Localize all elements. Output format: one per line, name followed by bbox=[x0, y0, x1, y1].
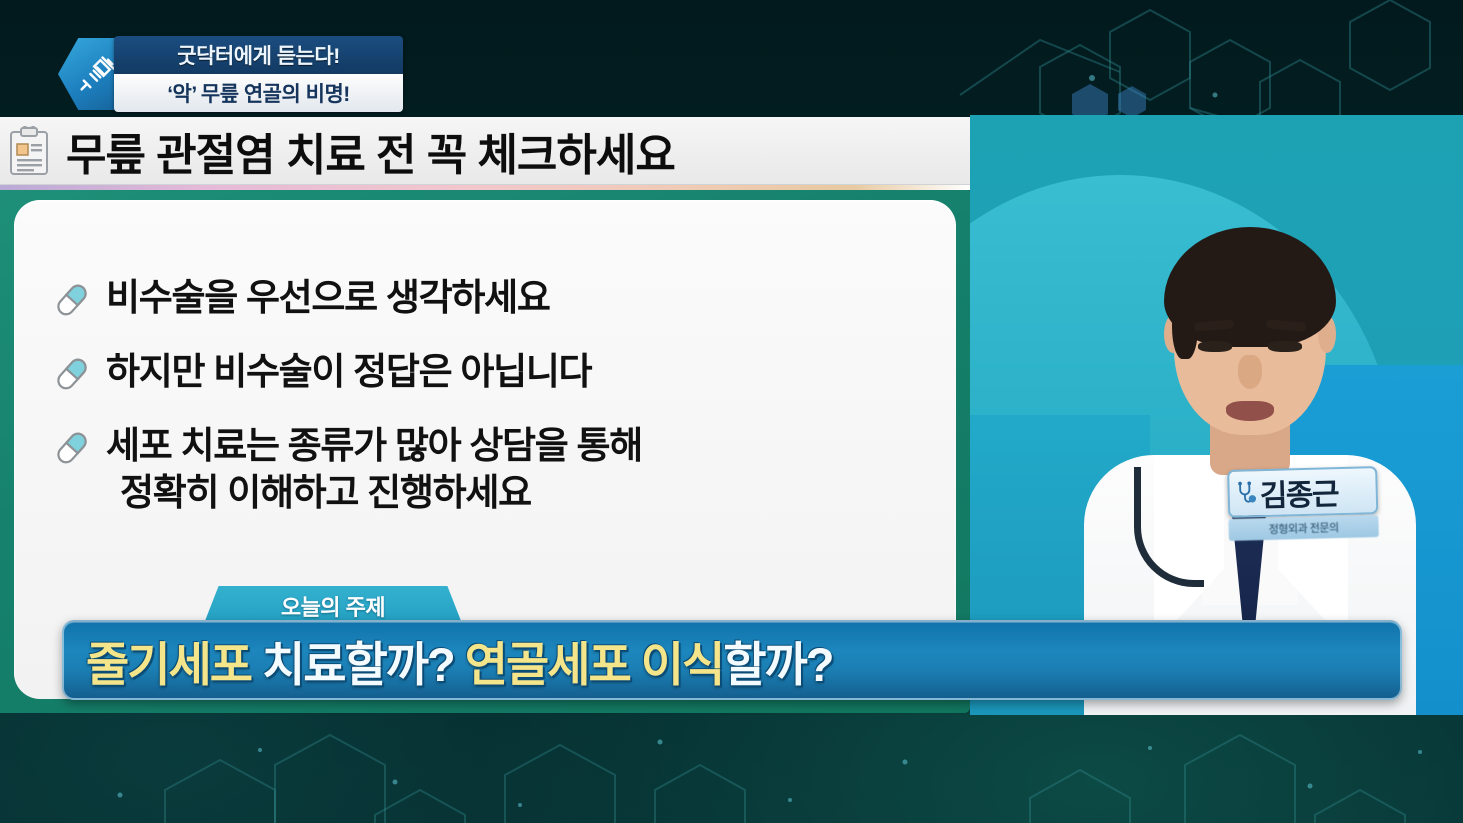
name-tag-specialty: 정형외과 전문의 bbox=[1228, 515, 1379, 541]
list-item: 비수술을 우선으로 생각하세요 bbox=[50, 274, 926, 322]
doctor-nose bbox=[1238, 355, 1262, 389]
doctor-mouth bbox=[1226, 401, 1274, 421]
name-tag-main: 김종근 bbox=[1227, 466, 1378, 518]
pill-capsule-icon bbox=[50, 426, 94, 470]
page-title: 무릎 관절염 치료 전 꼭 체크하세요 bbox=[66, 119, 675, 183]
doctor-eye-left bbox=[1198, 341, 1232, 352]
badge-text-block: 굿닥터에게 듣는다! ‘악’ 무릎 연골의 비명! bbox=[114, 36, 403, 112]
doctor-eye-right bbox=[1268, 341, 1302, 352]
stethoscope-icon bbox=[1235, 480, 1258, 507]
badge-line2: ‘악’ 무릎 연골의 비명! bbox=[114, 74, 403, 112]
page-header-bar: 무릎 관절염 치료 전 꼭 체크하세요 bbox=[0, 117, 970, 185]
list-item-text: 하지만 비수술이 정답은 아닙니다 bbox=[106, 348, 591, 395]
headline-banner: 줄기세포 치료할까? 연골세포 이식할까? bbox=[62, 620, 1402, 700]
headline-highlight-1: 줄기세포 bbox=[86, 638, 251, 691]
today-topic-label: 오늘의 주제 bbox=[281, 590, 385, 622]
list-item-line1: 하지만 비수술이 정답은 아닙니다 bbox=[106, 351, 591, 392]
doctor-name-tag: 김종근 정형외과 전문의 bbox=[1227, 466, 1379, 540]
pill-capsule-icon bbox=[50, 352, 94, 396]
pill-capsule-icon bbox=[50, 278, 94, 322]
headline-highlight-2: 연골세포 이식 bbox=[465, 638, 724, 691]
list-item-text: 세포 치료는 종류가 많아 상담을 통해 정확히 이해하고 진행하세요 bbox=[106, 422, 642, 517]
headline-rest-1: 치료할까? bbox=[251, 638, 465, 691]
headline-rest-2: 할까? bbox=[723, 638, 832, 691]
checklist-list: 비수술을 우선으로 생각하세요 하지만 비수술이 정답은 아닙니다 bbox=[50, 274, 926, 543]
name-tag-name: 김종근 bbox=[1259, 469, 1338, 515]
badge-line1: 굿닥터에게 듣는다! bbox=[114, 36, 403, 74]
list-item-line1: 세포 치료는 종류가 많아 상담을 통해 bbox=[106, 425, 642, 466]
headline-text: 줄기세포 치료할까? 연골세포 이식할까? bbox=[64, 626, 832, 695]
program-badge: 굿닥터에게 듣는다! ‘악’ 무릎 연골의 비명! bbox=[58, 36, 403, 112]
clipboard-icon bbox=[8, 126, 50, 176]
list-item: 세포 치료는 종류가 많아 상담을 통해 정확히 이해하고 진행하세요 bbox=[50, 422, 926, 517]
syringe-icon bbox=[75, 52, 119, 96]
doctor-hair bbox=[1164, 227, 1336, 347]
list-item-line2: 정확히 이해하고 진행하세요 bbox=[106, 469, 642, 516]
list-item-text: 비수술을 우선으로 생각하세요 bbox=[106, 274, 550, 321]
list-item: 하지만 비수술이 정답은 아닙니다 bbox=[50, 348, 926, 396]
list-item-line1: 비수술을 우선으로 생각하세요 bbox=[106, 277, 550, 318]
